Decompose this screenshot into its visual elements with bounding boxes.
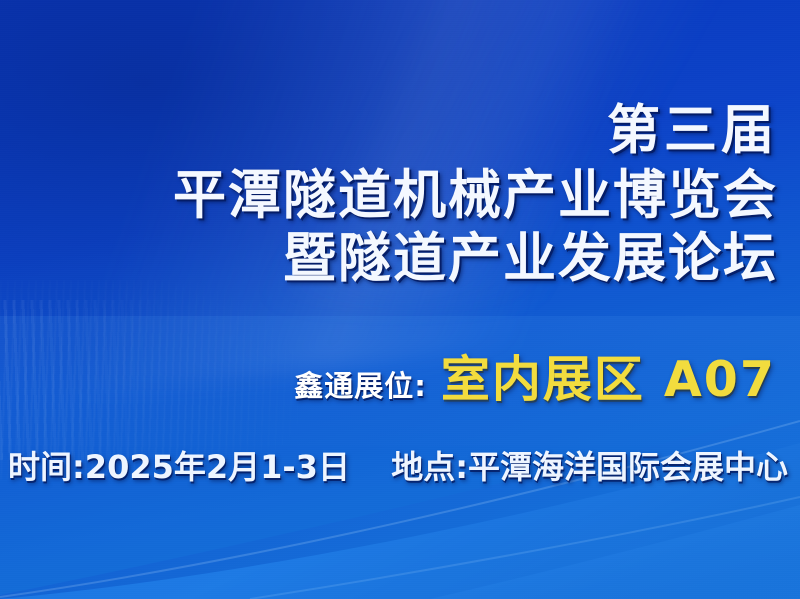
- meta-row: 时间:2025年2月1-3日 地点:平潭海洋国际会展中心: [8, 442, 788, 488]
- booth-row: 鑫通展位: 室内展区 A07: [294, 340, 776, 411]
- exhibition-banner: 第三届 平潭隧道机械产业博览会 暨隧道产业发展论坛 鑫通展位: 室内展区 A07…: [0, 0, 800, 599]
- headline-line-subtitle: 暨隧道产业发展论坛: [173, 232, 778, 285]
- booth-label: 鑫通展位:: [294, 363, 427, 405]
- headline-line-edition: 第三届: [173, 104, 778, 157]
- event-date: 时间:2025年2月1-3日: [8, 442, 350, 488]
- headline-block: 第三届 平潭隧道机械产业博览会 暨隧道产业发展论坛: [173, 104, 778, 285]
- banner-content: 第三届 平潭隧道机械产业博览会 暨隧道产业发展论坛 鑫通展位: 室内展区 A07…: [0, 0, 800, 599]
- event-location: 地点:平潭海洋国际会展中心: [391, 442, 788, 488]
- booth-value: 室内展区 A07: [441, 340, 776, 411]
- headline-line-title: 平潭隧道机械产业博览会: [173, 169, 778, 222]
